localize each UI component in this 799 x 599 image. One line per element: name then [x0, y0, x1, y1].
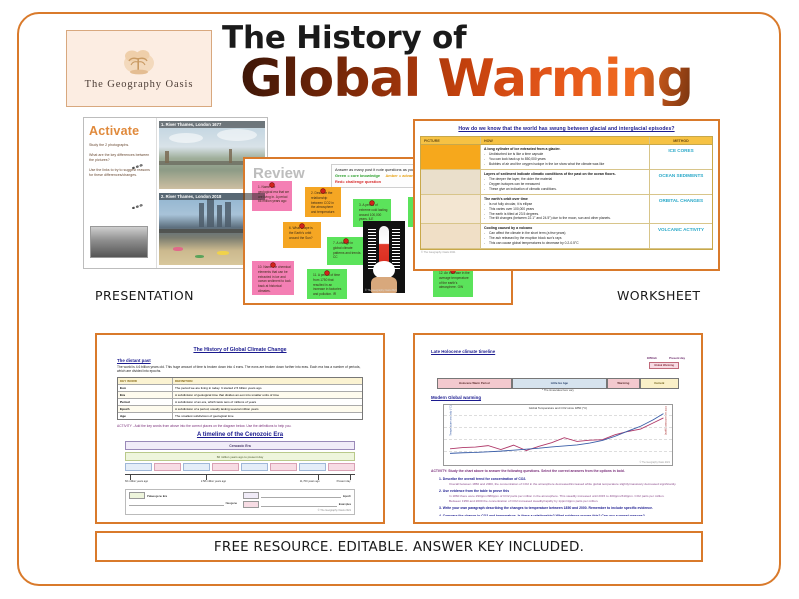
pin-icon [271, 263, 275, 267]
pin-icon [325, 271, 329, 275]
post-it-note[interactable]: 6. What shape is the Earth's orbit aroun… [283, 222, 321, 248]
timeline-segment: Warming [607, 378, 639, 389]
doc-right-activity-heading: ACTIVITY: Study the chart above to answe… [431, 469, 685, 473]
method-label: ORBITAL CHANGES [652, 198, 710, 204]
post-it-text: 7. A change in global climate patterns a… [333, 241, 361, 259]
question-number: 2. [439, 489, 442, 493]
timeline-badge: Global Warming [649, 362, 679, 369]
col-definition: DEFINITION [173, 378, 362, 384]
activity-question-list: 1. Describe the overall trend for concen… [439, 477, 677, 517]
timeline-cell [328, 463, 355, 471]
thermometer-globe-image: © The Geography Oasis 2021 [363, 221, 405, 293]
row-picture-cell [421, 224, 481, 248]
thermometer-credit: © The Geography Oasis 2021 [365, 289, 397, 292]
timeline-cell [241, 463, 268, 471]
cell-keyword: Eon [118, 385, 173, 391]
footer-banner: FREE RESOURCE. EDITABLE. ANSWER KEY INCL… [95, 531, 703, 562]
table-row: Layers of sediment indicate climatic con… [421, 170, 712, 195]
legend-label: Epoch [343, 494, 351, 498]
row-lead: Cooling caused by a volcano [484, 226, 646, 230]
post-it-text: 11. A period of time from 1750 that resu… [313, 273, 341, 296]
row-picture-cell [421, 195, 481, 223]
pin-icon [321, 189, 325, 193]
legend-label: Examples [339, 502, 351, 506]
table-row: A long cylinder of ice extracted from a … [421, 145, 712, 170]
table-row: Cooling caused by a volcano Can affect t… [421, 224, 712, 249]
photo-caption-2018: 2. River Thames, London 2018 [159, 193, 265, 200]
keyword-definition-table: KEY WORD DEFINITION Eon The period we ar… [117, 377, 363, 420]
legend-red: Red= challenge question [335, 179, 381, 184]
pin-icon [270, 183, 274, 187]
method-label: ICE CORES [652, 148, 710, 154]
post-it-note[interactable]: 11. A period of time from 1750 that resu… [307, 269, 347, 299]
document-preview-climate-history[interactable]: The History of Global Climate Change The… [95, 333, 385, 524]
table-row: Period A subdivision of an era, which la… [118, 399, 362, 406]
column-header-picture: PICTURE [421, 137, 481, 144]
timeline-segment: Little Ice Age [512, 378, 608, 389]
row-bullet: These give an indication of climatic con… [484, 187, 646, 192]
post-it-note[interactable]: 2. Describe the relationship between CO2… [305, 187, 341, 217]
table-row: Eon The period we are living in today. I… [118, 385, 362, 392]
timeline-label-1850: 1850ish [647, 356, 657, 360]
historic-photo-thumbnail [90, 226, 148, 258]
row-method-cell: ORBITAL CHANGES [650, 195, 712, 223]
question-text: Write your own paragraph describing the … [443, 506, 653, 510]
timeline-segment: Current [640, 378, 679, 389]
table-row: Epoch A subdivision of a period, usually… [118, 406, 362, 413]
worksheet-preview[interactable]: How do we know that the world has swung … [413, 119, 720, 271]
question-subtext: In 1860 there were 290ppm/380ppm of CO2 … [449, 494, 677, 503]
review-title: Review [253, 165, 305, 182]
timeline-axis: 66 million years ago 2.58 million years … [125, 474, 355, 485]
table-row: The earth's orbit over time Is not fully… [421, 195, 712, 224]
pin-icon [370, 201, 374, 205]
row-method-cell: VOLCANIC ACTIVITY [650, 224, 712, 248]
doc-right-content: Late Holocene climate timeline 1850ish P… [421, 341, 695, 516]
post-it-note[interactable]: 7. A change in global climate patterns a… [327, 237, 365, 265]
method-label: VOLCANIC ACTIVITY [652, 227, 710, 233]
post-it-text: 10. Name the chemical elements that can … [258, 265, 291, 293]
worksheet-table: PICTURE HOW METHOD A long cylinder of ic… [420, 136, 713, 250]
timeline-era-band: Cenozoic Era [125, 441, 355, 450]
question-number: 3. [439, 506, 442, 510]
legend-label: Neogene [226, 501, 237, 505]
timeline-cell [154, 463, 181, 471]
row-picture-cell [421, 145, 481, 169]
chart-series-line [450, 417, 663, 450]
row-picture-cell [421, 170, 481, 194]
holocene-timeline-bar: Holocene Warm Period Little Ice Age Warm… [437, 379, 679, 388]
row-how-cell: A long cylinder of ice extracted from a … [481, 145, 650, 169]
title-line-2: Global Warming [240, 53, 742, 106]
post-it-text: 12. An increase in the average temperatu… [439, 271, 470, 289]
row-bullet: This can cause global temperatures to de… [484, 241, 646, 246]
chain-link-icon-2: ⚭⚭⚭ [130, 202, 144, 212]
cell-definition: The smallest subdivision of geological t… [173, 413, 362, 419]
activate-line-1: Study the 2 photographs. [89, 143, 151, 149]
cenozoic-timeline: Cenozoic Era 66 million years ago to pre… [125, 441, 355, 485]
holocene-timeline-note: * The timescales here vary [431, 389, 685, 392]
legend-credit: © The Geography Oasis 2021 [243, 509, 351, 512]
table-row: KEY WORD DEFINITION [118, 378, 362, 385]
doc-right-section-heading: Modern Global warming [431, 395, 685, 400]
question-item: 4. Compare the change in CO2 and tempera… [439, 514, 677, 516]
legend-swatch [243, 492, 259, 499]
column-header-how: HOW [481, 137, 650, 144]
timeline-label-present: Present day [669, 356, 685, 360]
chart-title: Global Temperature and CO2 since 1850 (°… [444, 406, 672, 410]
chart-credit: © The Geography Oasis 2021 [639, 462, 670, 464]
label-presentation: PRESENTATION [95, 288, 194, 303]
cell-keyword: Epoch [118, 406, 173, 412]
timeline-cell [212, 463, 239, 471]
row-lead: A long cylinder of ice extracted from a … [484, 147, 646, 151]
table-row: Age The smallest subdivision of geologic… [118, 413, 362, 419]
row-how-cell: Layers of sediment indicate climatic con… [481, 170, 650, 194]
axis-label: 2.58 million years ago [201, 480, 226, 483]
row-lead: The earth's orbit over time [484, 197, 646, 201]
doc-left-timeline-title: A timeline of the Cenozoic Era [117, 432, 363, 438]
cell-definition: A subdivision of a period, usually lasti… [173, 406, 362, 412]
post-it-note[interactable]: 12. An increase in the average temperatu… [433, 267, 473, 297]
footer-text: FREE RESOURCE. EDITABLE. ANSWER KEY INCL… [214, 539, 584, 555]
post-it-note[interactable]: 10. Name the chemical elements that can … [252, 261, 294, 295]
doc-right-title: Late Holocene climate timeline [431, 349, 685, 354]
worksheet-table-header: PICTURE HOW METHOD [421, 137, 712, 145]
doc-left-section-heading: The distant past [117, 358, 363, 363]
question-subtext: Overall between 1850 and 2000, the conce… [449, 482, 677, 487]
axis-label: 66 million years ago [125, 480, 148, 483]
row-lead: Layers of sediment indicate climatic con… [484, 172, 646, 176]
legend-green: Green = core knowledge [335, 173, 380, 178]
timeline-cell [125, 463, 152, 471]
pin-icon [300, 224, 304, 228]
activate-title: Activate [89, 124, 151, 138]
post-it-text: 6. What shape is the Earth's orbit aroun… [289, 226, 313, 240]
cell-keyword: Period [118, 399, 173, 405]
doc-left-section-text: The world is 4.6 billion years old. This… [117, 365, 363, 375]
timeline-cell [299, 463, 326, 471]
legend-swatch [243, 501, 259, 508]
cell-keyword: Era [118, 392, 173, 398]
column-header-method: METHOD [650, 137, 712, 144]
label-worksheet: WORKSHEET [617, 288, 700, 303]
row-how-cell: Cooling caused by a volcano Can affect t… [481, 224, 650, 248]
axis-label: 11,700 years ago [300, 480, 320, 483]
cell-definition: A subdivision of geological time that di… [173, 392, 362, 398]
method-label: OCEAN SEDIMENTS [652, 173, 710, 179]
chart-series-line [450, 413, 663, 453]
brand-logo: The Geography Oasis [66, 30, 212, 107]
row-bullet: The tilt changes (between 22.1° and 24.5… [484, 216, 646, 221]
cell-keyword: Age [118, 413, 173, 419]
oasis-palm-icon [116, 47, 162, 77]
timeline-era-sub: 66 million years ago to present day [125, 452, 355, 461]
holocene-timeline: 1850ish Present day Global Warming [431, 356, 685, 376]
post-it-text: 2. Describe the relationship between CO2… [311, 191, 335, 214]
worksheet-credit: © The Geography Oasis 2021 [421, 251, 712, 254]
question-number: 4. [439, 514, 442, 516]
global-temperature-chart: Global Temperature and CO2 since 1850 (°… [443, 404, 673, 466]
pin-icon [344, 239, 348, 243]
timeline-cell [183, 463, 210, 471]
question-item: 2. Use evidence from the table to prove … [439, 489, 677, 493]
timeline-cell [270, 463, 297, 471]
col-keyword: KEY WORD [118, 378, 173, 384]
question-item: 3. Write your own paragraph describing t… [439, 506, 677, 510]
doc-left-title: The History of Global Climate Change [117, 347, 363, 353]
question-text: Describe the overall trend for concentra… [443, 477, 526, 481]
brand-logo-text: The Geography Oasis [85, 79, 194, 90]
poster-title: The History of Global Warming [222, 22, 742, 106]
question-text: Compare the change in CO2 and temperatur… [443, 514, 645, 516]
cell-definition: The period we are living in today. It st… [173, 385, 362, 391]
question-number: 1. [439, 477, 442, 481]
row-method-cell: ICE CORES [650, 145, 712, 169]
axis-label: Present day [337, 480, 351, 483]
row-how-cell: The earth's orbit over time Is not fully… [481, 195, 650, 223]
presentation-preview-activate[interactable]: Activate Study the 2 photographs. What a… [83, 117, 268, 269]
doc-left-content: The History of Global Climate Change The… [103, 341, 377, 516]
table-row: Era A subdivision of geological time tha… [118, 392, 362, 399]
row-bullet: Bubbles of air and the oxygen isotope in… [484, 162, 646, 167]
legend-swatch [129, 492, 145, 499]
document-preview-holocene-chart[interactable]: Late Holocene climate timeline 1850ish P… [413, 333, 703, 524]
timeline-legend: Palaeogene Era Neogene Epoch Examples © … [125, 489, 355, 515]
activate-text-column: Activate Study the 2 photographs. What a… [84, 118, 156, 268]
activate-instructions: Study the 2 photographs. What are the ke… [89, 143, 151, 179]
photo-caption-1677: 1. River Thames, London 1677 [159, 121, 265, 128]
timeline-segment: Holocene Warm Period [437, 378, 512, 389]
timeline-period-row [125, 463, 355, 471]
doc-left-activity: ACTIVITY - Add the key words from above … [117, 424, 363, 429]
worksheet-title: How do we know that the world has swung … [421, 126, 712, 132]
question-text: Use evidence from the table to prove thi… [443, 489, 509, 493]
legend-label: Palaeogene Era [147, 494, 167, 498]
post-it-text: 3. A period of extreme cold lasting arou… [359, 203, 387, 221]
chart-plot-area [450, 413, 666, 455]
question-item: 1. Describe the overall trend for concen… [439, 477, 677, 481]
row-method-cell: OCEAN SEDIMENTS [650, 170, 712, 194]
poster-page: The Geography Oasis The History of Globa… [0, 0, 799, 599]
cell-definition: A subdivision of an era, which lasts ten… [173, 399, 362, 405]
